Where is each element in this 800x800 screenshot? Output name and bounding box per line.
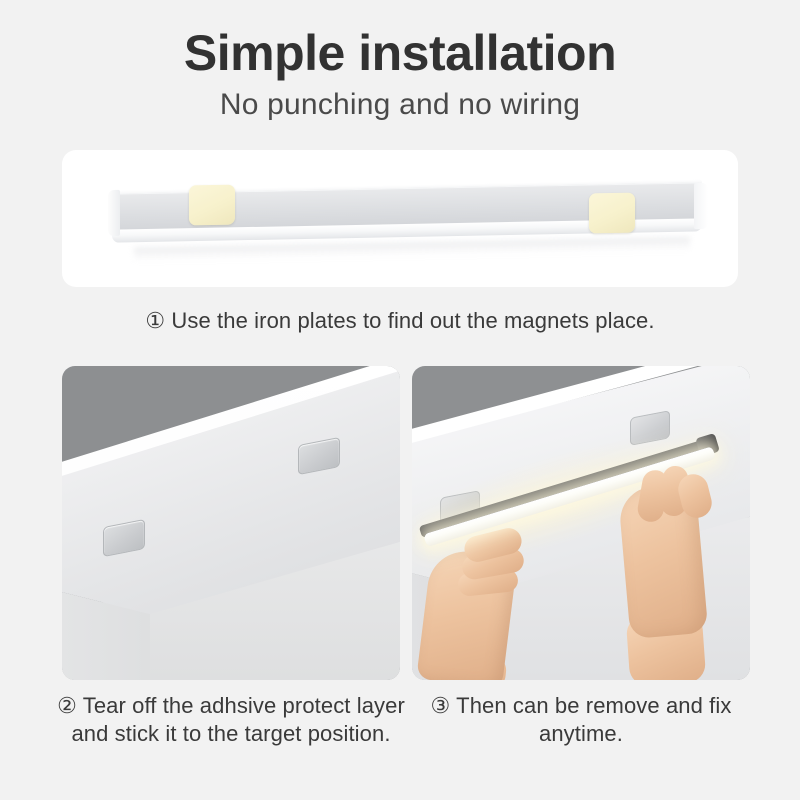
product-hero-card <box>62 150 738 287</box>
bar-right-endcap <box>694 183 708 229</box>
step-3-photo <box>412 366 750 680</box>
iron-plate-icon <box>189 185 235 226</box>
page-title: Simple installation <box>0 26 800 80</box>
bar-left-endcap <box>108 190 120 236</box>
led-light-bar-illustration <box>112 188 702 250</box>
header: Simple installation No punching and no w… <box>0 26 800 122</box>
iron-plate-icon <box>589 193 635 234</box>
step-3-caption: ③ Then can be remove and fix anytime. <box>406 692 756 748</box>
page-subtitle: No punching and no wiring <box>0 88 800 122</box>
step-2-photo <box>62 366 400 680</box>
step-2-caption: ② Tear off the adhsive protect layer and… <box>50 692 412 748</box>
step-1-caption: ① Use the iron plates to find out the ma… <box>0 307 800 335</box>
product-infographic-page: Simple installation No punching and no w… <box>0 0 800 800</box>
